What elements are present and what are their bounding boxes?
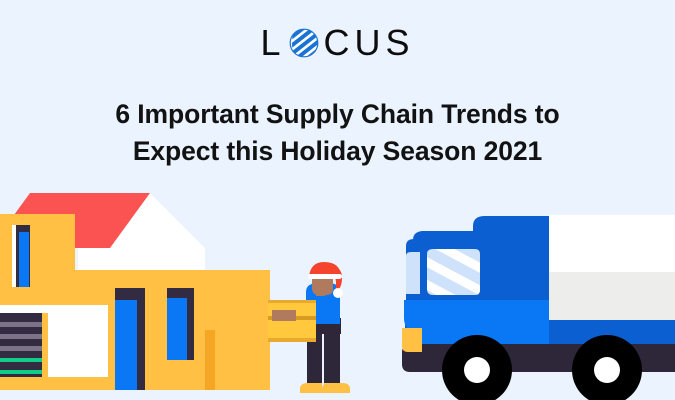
house-wing-shadow: [205, 330, 215, 390]
house-window-small: [12, 225, 30, 287]
house-illustration: [0, 193, 270, 390]
delivery-person: [268, 262, 350, 393]
truck-side-window: [406, 252, 420, 294]
courier-shoe-front: [322, 383, 350, 393]
courier-hat-trim: [308, 274, 342, 279]
courier-hand-overlay: [272, 310, 296, 321]
truck-cargo-top: [549, 215, 675, 272]
house-fence: [0, 313, 48, 377]
house-window-tall-2: [167, 288, 203, 360]
courier-shoe-back: [300, 383, 322, 393]
courier-hat-pompom: [333, 288, 343, 298]
house-window-tall-1: [115, 288, 154, 390]
illustration-scene: [0, 0, 675, 400]
truck-cargo-bottom: [549, 272, 675, 321]
truck-headlight: [402, 328, 422, 352]
promo-banner: L CUS 6 Important S: [0, 0, 675, 400]
delivery-truck: [402, 215, 675, 400]
